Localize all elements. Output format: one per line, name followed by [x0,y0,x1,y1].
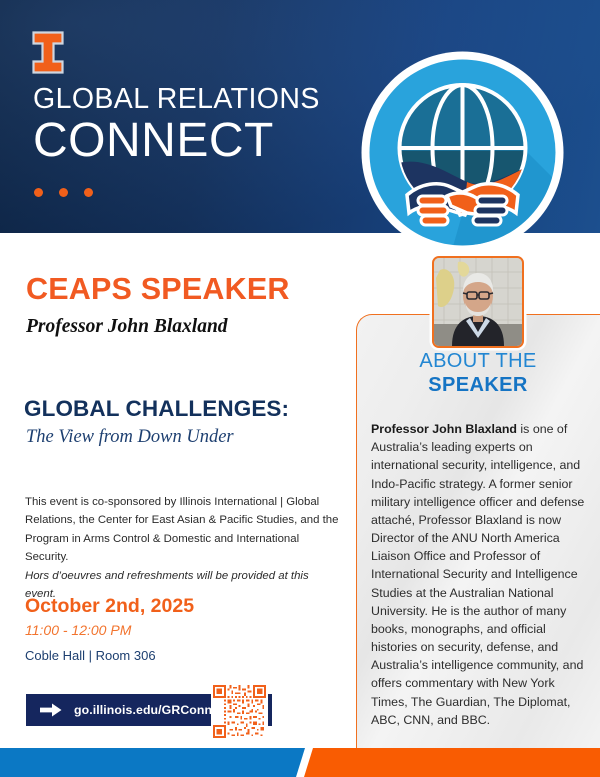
speaker-name: Professor John Blaxland [26,316,228,338]
decorative-dots [34,188,93,197]
qr-code-icon[interactable] [211,683,268,740]
headshot-image [434,258,522,346]
footer-bar-right [304,748,600,777]
banner-title: GLOBAL RELATIONS CONNECT [33,85,320,165]
speaker-bio: Professor John Blaxland is one of Austra… [371,420,587,729]
about-heading-line1: ABOUT THE [356,350,600,373]
arrow-right-icon [40,703,62,717]
footer-bar [0,748,600,777]
dot-icon [34,188,43,197]
dot-icon [84,188,93,197]
event-location: Coble Hall | Room 306 [25,648,156,663]
sponsorship-block: This event is co-sponsored by Illinois I… [25,493,340,604]
speaker-bio-body: is one of Australia’s leading experts on… [371,422,584,727]
speaker-headshot-photo [432,256,524,348]
talk-subtitle: The View from Down Under [26,427,234,448]
globe-handshake-logo-icon [355,45,570,260]
series-eyebrow: CEAPS SPEAKER [26,272,290,307]
sponsor-text: This event is co-sponsored by Illinois I… [25,493,340,567]
registration-link-text: go.illinois.edu/GRConnect [74,703,230,717]
event-poster: GLOBAL RELATIONS CONNECT [0,0,600,777]
event-date: October 2nd, 2025 [25,595,194,618]
footer-bar-left [0,748,305,777]
banner-title-line2: CONNECT [33,117,320,165]
dot-icon [59,188,68,197]
event-time: 11:00 - 12:00 PM [25,622,131,638]
about-heading: ABOUT THE SPEAKER [356,350,600,398]
illinois-block-i-icon [32,31,64,74]
banner-title-line1: GLOBAL RELATIONS [33,85,320,114]
speaker-bio-lead: Professor John Blaxland [371,422,517,436]
about-heading-line2: SPEAKER [356,373,600,398]
talk-title: GLOBAL CHALLENGES: [24,396,289,422]
